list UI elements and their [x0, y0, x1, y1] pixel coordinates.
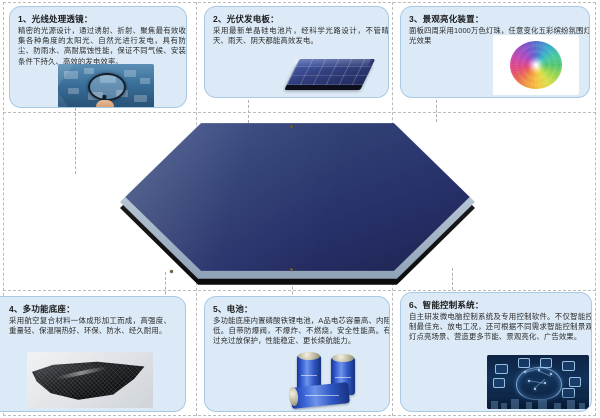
frame-dash-row-bottom	[3, 290, 596, 291]
card-battery-title: 5、电池：	[213, 303, 382, 315]
frame-dash-bottom	[3, 415, 596, 416]
hexagonal-solar-panel	[120, 118, 475, 288]
frame-dash-right	[595, 2, 596, 416]
pv-module-photo	[283, 51, 381, 97]
iot-icon-1	[495, 364, 508, 374]
card-lens[interactable]: 1、光线处理透镜： 精密的光源设计，通过诱射、折射、聚焦最有效收集各种角度的太阳…	[9, 6, 187, 108]
card-pv-panel-title: 2、光伏发电板：	[213, 13, 381, 25]
card-controller[interactable]: 6、智能控制系统： 自主研发微电脑控制系统及专用控制软件。不仅智能控制最佳充、放…	[400, 292, 592, 412]
color-wheel-photo	[493, 35, 579, 95]
iot-icon-2	[518, 358, 530, 368]
card-base[interactable]: 4、多功能底座： 采用航空复合材料一体成形加工而成，高强度、重量轻、保温隔热好、…	[0, 296, 186, 412]
frame-dash-row-top	[3, 112, 596, 113]
card-controller-title: 6、智能控制系统：	[409, 299, 584, 311]
frame-dash-top	[3, 2, 596, 3]
card-base-title: 4、多功能底座：	[0, 303, 178, 315]
magnifier-glass-icon	[88, 73, 126, 101]
city-skyline	[487, 395, 589, 409]
card-lighting-title: 3、景观亮化装置：	[409, 13, 582, 25]
connector-card1	[75, 108, 76, 174]
card-battery-body: 多功能底座内置磷酸铁锂电池，A品电芯容量高、内阻低。自带防爆阀，不爆炸、不燃烧，…	[213, 316, 390, 347]
iot-icon-4	[562, 361, 575, 371]
smart-control-photo	[487, 355, 589, 409]
card-pv-panel[interactable]: 2、光伏发电板： 采用最新单晶硅电池片，经科学光路设计，不管晴天、雨天、阴天都能…	[204, 6, 389, 98]
iot-icon-6	[569, 377, 581, 387]
card-battery[interactable]: 5、电池： 多功能底座内置磷酸铁锂电池，A品电芯容量高、内阻低。自带防爆阀，不爆…	[204, 296, 390, 412]
iot-icon-3	[540, 358, 552, 368]
iot-icon-5	[493, 378, 505, 388]
card-lens-title: 1、光线处理透镜：	[18, 13, 179, 25]
battery-cap-1	[298, 352, 320, 360]
card-lighting[interactable]: 3、景观亮化装置： 面板四周采用1000万色灯珠，任意变化五彩缤纷氛围灯光效果	[400, 6, 590, 98]
card-pv-panel-body: 采用最新单晶硅电池片，经科学光路设计，不管晴天、雨天、阴天都能高效发电。	[213, 26, 389, 46]
card-lens-body: 精密的光源设计，通过诱射、折射、聚焦最有效收集各种角度的太阳光、自然光进行发电，…	[18, 26, 186, 67]
hand-icon	[96, 100, 114, 108]
card-base-body: 采用航空复合材料一体成形加工而成，高强度、重量轻、保温隔热好、环保、防水、经久耐…	[0, 316, 171, 336]
card-controller-body: 自主研发微电脑控制系统及专用控制软件。不仅智能控制最佳充、放电工况，还可根据不同…	[409, 312, 592, 343]
battery-cap-2	[332, 354, 354, 362]
lithium-cells-photo	[283, 347, 387, 411]
carbon-fiber-base-photo	[27, 352, 153, 408]
diagram-canvas: 1、光线处理透镜： 精密的光源设计，通过诱射、折射、聚焦最有效收集各种角度的太阳…	[0, 0, 600, 418]
magnifier-photo	[58, 64, 154, 108]
panel-bolt-left	[170, 270, 173, 273]
